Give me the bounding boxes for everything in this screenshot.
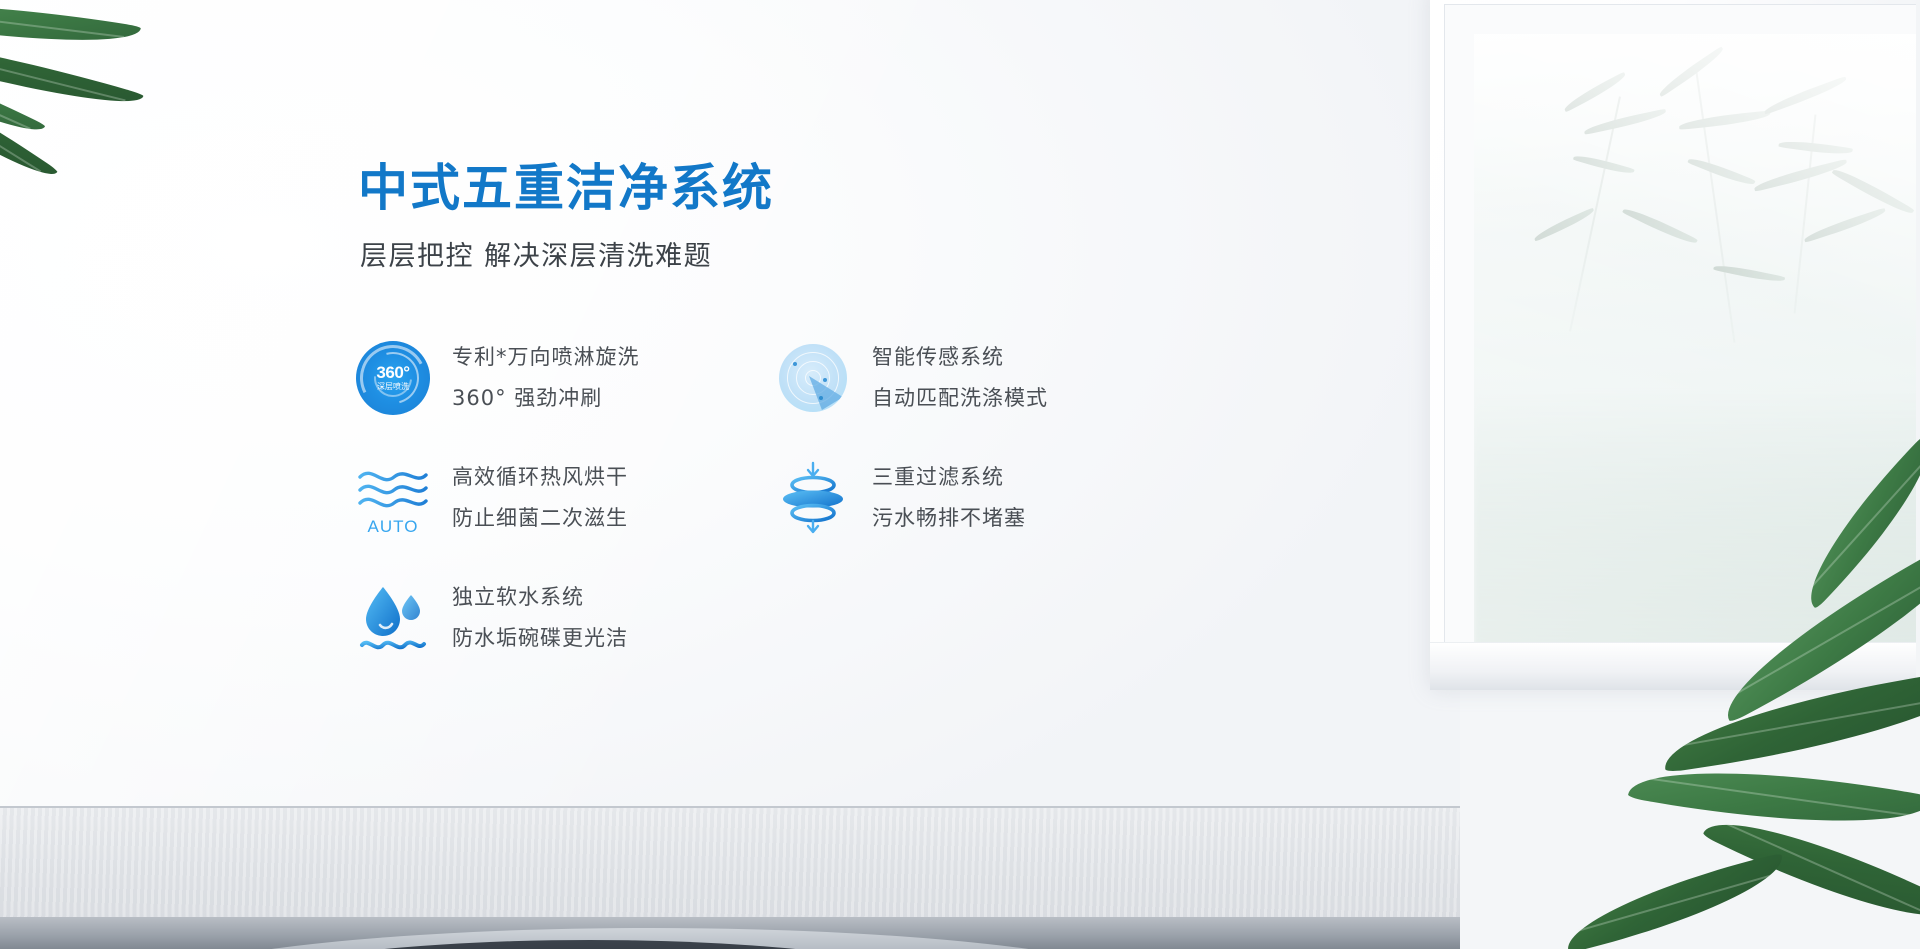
feature-line-1: 智能传感系统 [872, 345, 1004, 369]
water-softener-drop-icon [356, 581, 430, 655]
feature-line-1: 专利*万向喷淋旋洗 [452, 345, 640, 369]
feature-row: 360° 深层喷洗 专利*万向喷淋旋洗 360° 强劲冲刷 [356, 318, 1196, 438]
feature-icon-wrapper: AUTO [356, 461, 430, 535]
icon-label-deep-spray: 深层喷洗 [377, 382, 409, 392]
feature-text: 智能传感系统 自动匹配洗涤模式 [872, 337, 1048, 419]
page-subtitle: 层层把控 解决深层清洗难题 [360, 234, 712, 273]
feature-line-1: 三重过滤系统 [872, 465, 1004, 489]
feature-item-drying: AUTO 高效循环热风烘干 防止细菌二次滋生 [356, 438, 776, 558]
feature-text: 三重过滤系统 污水畅排不堵塞 [872, 457, 1026, 539]
feature-icon-wrapper [776, 341, 850, 415]
feature-line-2: 自动匹配洗涤模式 [872, 378, 1048, 419]
360-spray-badge-icon: 360° 深层喷洗 [356, 341, 430, 415]
feature-icon-wrapper [776, 461, 850, 535]
feature-item-sensor: 智能传感系统 自动匹配洗涤模式 [776, 318, 1196, 438]
feature-line-2: 360° 强劲冲刷 [452, 378, 640, 419]
feature-icon-wrapper [356, 581, 430, 655]
triple-filter-icon [776, 461, 850, 535]
feature-text: 独立软水系统 防水垢碗碟更光洁 [452, 577, 628, 659]
feature-text: 专利*万向喷淋旋洗 360° 强劲冲刷 [452, 337, 640, 419]
marketing-content: 中式五重洁净系统 层层把控 解决深层清洗难题 360° 深层喷洗 [0, 0, 1920, 949]
feature-item-softener: 独立软水系统 防水垢碗碟更光洁 [356, 558, 776, 678]
icon-label-auto: AUTO [356, 517, 430, 537]
feature-line-1: 独立软水系统 [452, 585, 584, 609]
feature-line-2: 污水畅排不堵塞 [872, 498, 1026, 539]
auto-hot-air-waves-icon: AUTO [356, 461, 430, 535]
icon-label-360: 360° [376, 365, 409, 381]
feature-item-spray: 360° 深层喷洗 专利*万向喷淋旋洗 360° 强劲冲刷 [356, 318, 776, 438]
feature-line-1: 高效循环热风烘干 [452, 465, 628, 489]
feature-list: 360° 深层喷洗 专利*万向喷淋旋洗 360° 强劲冲刷 [356, 318, 1196, 678]
feature-line-2: 防止细菌二次滋生 [452, 498, 628, 539]
feature-line-2: 防水垢碗碟更光洁 [452, 618, 628, 659]
feature-row: AUTO 高效循环热风烘干 防止细菌二次滋生 [356, 438, 1196, 558]
feature-text: 高效循环热风烘干 防止细菌二次滋生 [452, 457, 628, 539]
page-title: 中式五重洁净系统 [358, 148, 774, 220]
feature-item-filter: 三重过滤系统 污水畅排不堵塞 [776, 438, 1196, 558]
feature-icon-wrapper: 360° 深层喷洗 [356, 341, 430, 415]
feature-row: 独立软水系统 防水垢碗碟更光洁 [356, 558, 1196, 678]
smart-sensor-radar-icon [779, 344, 847, 412]
